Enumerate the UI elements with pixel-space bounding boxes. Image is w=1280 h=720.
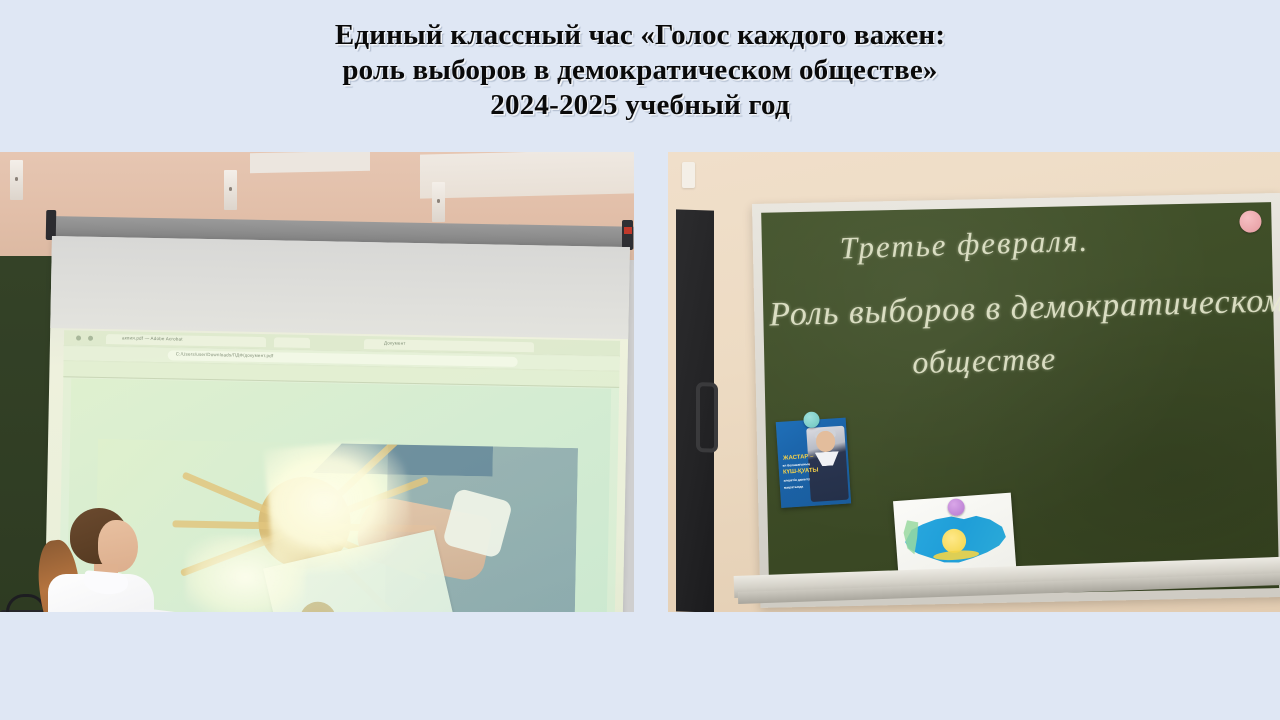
student-figure bbox=[22, 508, 212, 612]
photo-classroom-projector: акпия.pdf — Adobe Acrobat Документ C:/Us… bbox=[0, 152, 634, 612]
ceiling-strip-secondary bbox=[250, 152, 370, 173]
screen-bracket bbox=[224, 170, 237, 210]
poster-subline-1: ел болашағының bbox=[782, 462, 810, 468]
ceiling-strip bbox=[420, 152, 634, 199]
poster-subline-3: мақсатында bbox=[784, 484, 803, 489]
chalk-text-topic-line2: обществе bbox=[912, 340, 1057, 381]
light-switch bbox=[682, 162, 695, 188]
chalkboard-frame: Третье февраля. Роль выборов в демократи… bbox=[752, 193, 1280, 608]
roller-cap-right bbox=[622, 220, 633, 250]
title-line-1: Единый классный час «Голос каждого важен… bbox=[0, 18, 1280, 53]
portrait-head bbox=[815, 430, 835, 452]
poster-president: ЖАСТАР – ел болашағының КҮШ-ҚУАТЫ әлеует… bbox=[776, 418, 851, 508]
title-line-2: роль выборов в демократическом обществе» bbox=[0, 53, 1280, 88]
photo-chalkboard: Третье февраля. Роль выборов в демократи… bbox=[668, 152, 1280, 612]
chalkboard-texture bbox=[761, 202, 1279, 599]
student-arm bbox=[128, 607, 219, 612]
presentation-slide: Единый классный час «Голос каждого важен… bbox=[0, 0, 1280, 720]
screen-bracket bbox=[432, 182, 445, 222]
browser-nav-dot bbox=[76, 335, 81, 340]
dark-door-panel bbox=[676, 209, 714, 612]
screen-bracket bbox=[10, 160, 23, 200]
browser-tab-title-secondary: Документ bbox=[384, 340, 406, 345]
browser-tab bbox=[274, 337, 310, 348]
portrait-shirt bbox=[815, 451, 840, 467]
browser-nav-dot bbox=[88, 336, 93, 341]
screen-blank-area bbox=[50, 236, 630, 339]
slide-title: Единый классный час «Голос каждого важен… bbox=[0, 18, 1280, 123]
title-line-3: 2024-2025 учебный год bbox=[0, 88, 1280, 123]
poster-portrait bbox=[806, 426, 849, 502]
chalkboard-surface: Третье февраля. Роль выборов в демократи… bbox=[761, 202, 1279, 599]
door-handle bbox=[696, 382, 718, 453]
magnet-purple bbox=[947, 498, 965, 516]
poster-subline-2: әлеуетін дамыту bbox=[783, 477, 810, 483]
